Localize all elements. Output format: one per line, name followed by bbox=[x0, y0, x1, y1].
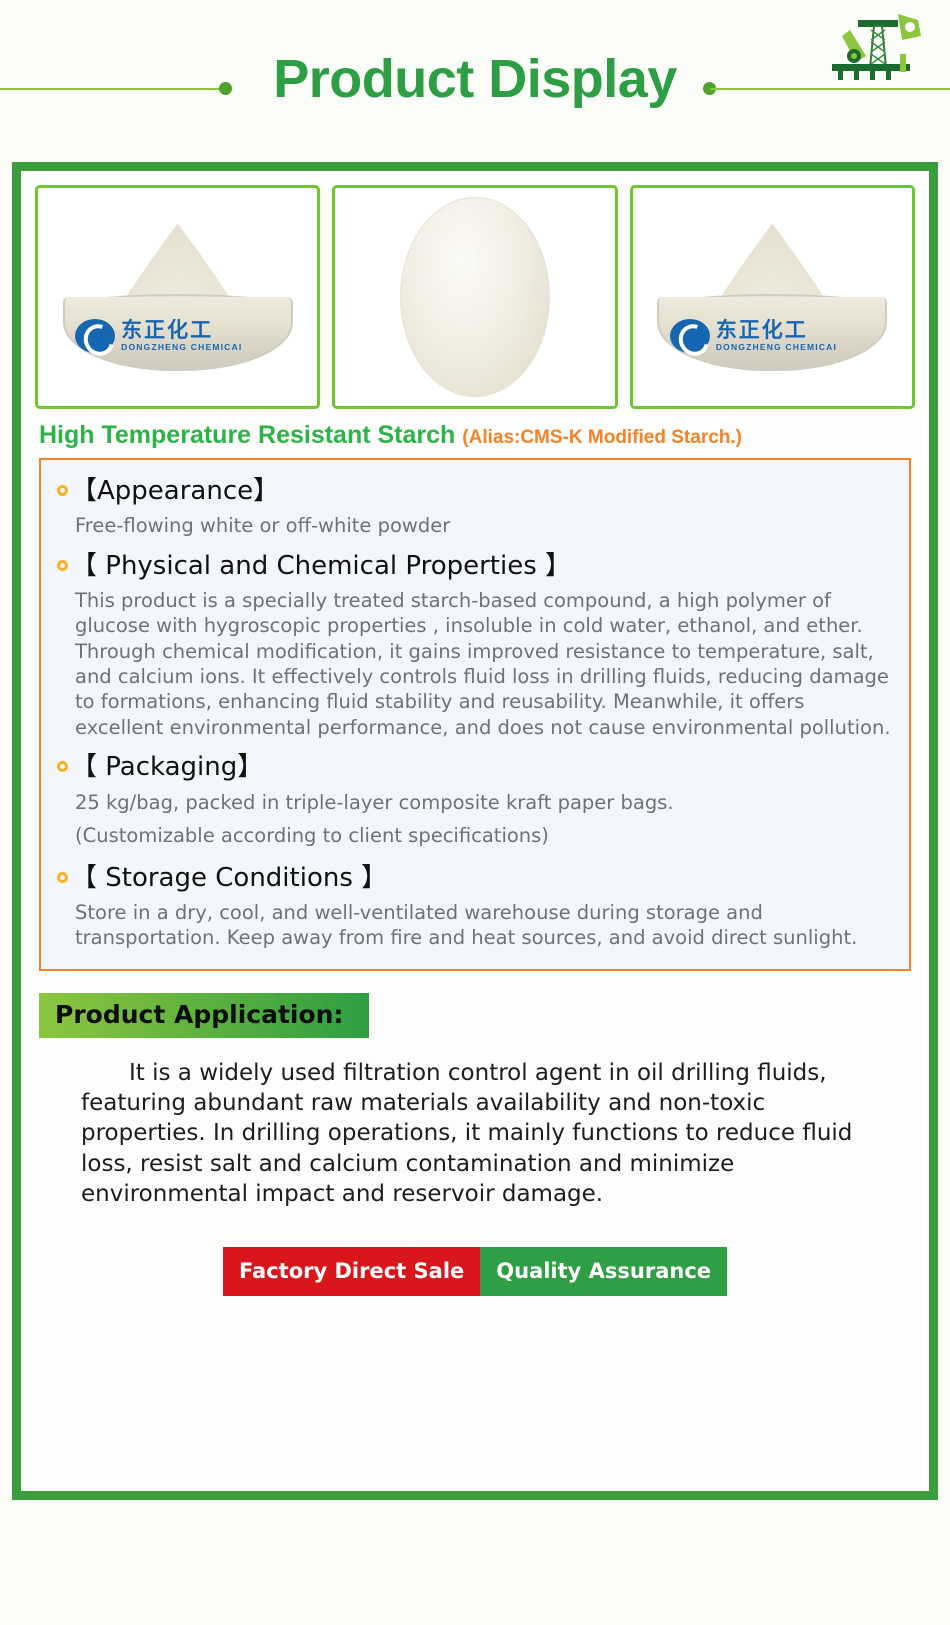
product-alias: (Alias:CMS-K Modified Starch.) bbox=[462, 427, 742, 448]
product-gallery: 东正化工 DONGZHENG CHEMICAI 东正化工 DONGZHENG C… bbox=[21, 171, 929, 409]
page-header: Product Display bbox=[0, 0, 950, 160]
spec-text: Free-flowing white or off-white powder bbox=[57, 513, 893, 538]
brand-logo-mark bbox=[670, 319, 710, 353]
spec-packaging: 【 Packaging】 25 kg/bag, packed in triple… bbox=[57, 750, 893, 850]
specification-box: 【Appearance】 Free-flowing white or off-w… bbox=[39, 458, 911, 971]
bullet-icon bbox=[57, 761, 68, 772]
oil-derrick-icon bbox=[822, 6, 932, 88]
product-name: High Temperature Resistant Starch (Alias… bbox=[21, 409, 929, 458]
product-image-1[interactable]: 东正化工 DONGZHENG CHEMICAI bbox=[35, 185, 320, 409]
brand-logo: 东正化工 DONGZHENG CHEMICAI bbox=[670, 309, 875, 362]
product-image-2[interactable] bbox=[332, 185, 617, 409]
spec-physical-chemical-properties: 【 Physical and Chemical Properties 】 Thi… bbox=[57, 549, 893, 740]
spec-heading: 【 Physical and Chemical Properties 】 bbox=[71, 549, 571, 583]
powder-closeup bbox=[400, 197, 550, 397]
application-text: It is a widely used filtration control a… bbox=[81, 1058, 869, 1210]
page-title: Product Display bbox=[0, 48, 950, 110]
application-banner: Product Application: bbox=[39, 993, 369, 1038]
spec-text: Store in a dry, cool, and well-ventilate… bbox=[57, 900, 893, 951]
spec-storage-conditions: 【 Storage Conditions 】 Store in a dry, c… bbox=[57, 861, 893, 951]
product-name-main: High Temperature Resistant Starch bbox=[39, 421, 455, 449]
petri-dish-illustration: 东正化工 DONGZHENG CHEMICAI bbox=[53, 210, 303, 385]
content-frame: 东正化工 DONGZHENG CHEMICAI 东正化工 DONGZHENG C… bbox=[12, 162, 938, 1500]
product-image-3[interactable]: 东正化工 DONGZHENG CHEMICAI bbox=[630, 185, 915, 409]
spec-text-secondary: (Customizable according to client specif… bbox=[57, 822, 893, 850]
bullet-icon bbox=[57, 485, 68, 496]
spec-heading: 【 Packaging】 bbox=[71, 750, 263, 784]
spec-heading: 【Appearance】 bbox=[71, 474, 279, 508]
badge-row: Factory Direct Sale Quality Assurance bbox=[21, 1247, 929, 1296]
spec-heading: 【 Storage Conditions 】 bbox=[71, 861, 387, 895]
spec-text: This product is a specially treated star… bbox=[57, 588, 893, 740]
spec-text: 25 kg/bag, packed in triple-layer compos… bbox=[57, 789, 893, 817]
brand-name-cn: 东正化工 bbox=[121, 320, 242, 341]
brand-logo: 东正化工 DONGZHENG CHEMICAI bbox=[75, 309, 280, 362]
quality-assurance-badge[interactable]: Quality Assurance bbox=[480, 1247, 727, 1296]
brand-logo-mark bbox=[75, 319, 115, 353]
spec-appearance: 【Appearance】 Free-flowing white or off-w… bbox=[57, 474, 893, 539]
bullet-icon bbox=[57, 560, 68, 571]
header-rule-right bbox=[710, 88, 950, 90]
brand-name-en: DONGZHENG CHEMICAI bbox=[716, 343, 837, 352]
bullet-icon bbox=[57, 872, 68, 883]
petri-dish-illustration: 东正化工 DONGZHENG CHEMICAI bbox=[647, 210, 897, 385]
brand-name-en: DONGZHENG CHEMICAI bbox=[121, 343, 242, 352]
brand-name-cn: 东正化工 bbox=[716, 320, 837, 341]
factory-direct-sale-badge[interactable]: Factory Direct Sale bbox=[223, 1247, 480, 1296]
